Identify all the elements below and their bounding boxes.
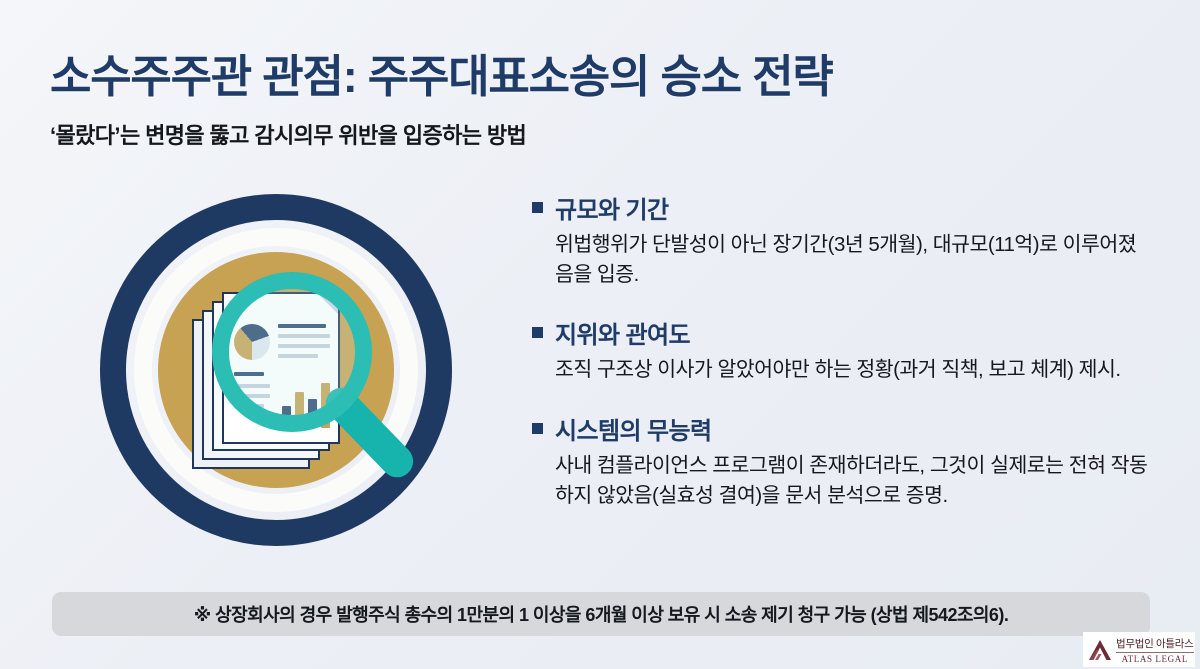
- bullet-title: 지위와 관여도: [555, 315, 690, 350]
- page-subtitle: ‘몰랐다’는 변명을 뚫고 감시의무 위반을 입증하는 방법: [50, 118, 526, 150]
- bullet-title: 시스템의 무능력: [555, 411, 711, 446]
- page-title: 소수주주관 관점: 주주대표소송의 승소 전략: [50, 40, 833, 105]
- bullet-body: 사내 컴플라이언스 프로그램이 존재하더라도, 그것이 실제로는 전혀 작동하지…: [555, 451, 1152, 510]
- logo-divider: [1116, 652, 1194, 653]
- bullet-body: 위법행위가 단발성이 아닌 장기간(3년 5개월), 대규모(11억)로 이루어…: [555, 230, 1152, 289]
- bullet-item: 지위와 관여도 조직 구조상 이사가 알았어야만 하는 정황(과거 직책, 보고…: [532, 315, 1152, 385]
- company-logo: 법무법인 아틀라스 ATLAS LEGAL: [1083, 632, 1195, 667]
- bullet-heading-row: 시스템의 무능력: [532, 411, 1152, 446]
- bullet-heading-row: 지위와 관여도: [532, 315, 1152, 350]
- logo-text-block: 법무법인 아틀라스 ATLAS LEGAL: [1116, 636, 1194, 664]
- bullet-item: 시스템의 무능력 사내 컴플라이언스 프로그램이 존재하더라도, 그것이 실제로…: [532, 411, 1152, 510]
- bullet-body: 조직 구조상 이사가 알았어야만 하는 정황(과거 직책, 보고 체계) 제시.: [555, 355, 1152, 385]
- bullet-item: 규모와 기간 위법행위가 단발성이 아닌 장기간(3년 5개월), 대규모(11…: [532, 190, 1152, 289]
- footnote-band: ※ 상장회사의 경우 발행주식 총수의 1만분의 1 이상을 6개월 이상 보유…: [52, 592, 1150, 636]
- bullet-heading-row: 규모와 기간: [532, 190, 1152, 225]
- bullet-title: 규모와 기간: [555, 190, 668, 225]
- bullet-list: 규모와 기간 위법행위가 단발성이 아닌 장기간(3년 5개월), 대규모(11…: [532, 190, 1152, 511]
- document-magnifier-illustration: [92, 186, 492, 568]
- logo-english-name: ATLAS LEGAL: [1122, 654, 1188, 664]
- slide-root: 소수주주관 관점: 주주대표소송의 승소 전략 ‘몰랐다’는 변명을 뚫고 감시…: [0, 0, 1200, 669]
- square-bullet-icon: [532, 423, 543, 434]
- logo-korean-name: 법무법인 아틀라스: [1116, 636, 1194, 651]
- magnifier-lens-icon: [212, 272, 372, 432]
- atlas-mountain-icon: [1087, 638, 1113, 662]
- square-bullet-icon: [532, 327, 543, 338]
- footnote-text: ※ 상장회사의 경우 발행주식 총수의 1만분의 1 이상을 6개월 이상 보유…: [194, 601, 1009, 627]
- square-bullet-icon: [532, 202, 543, 213]
